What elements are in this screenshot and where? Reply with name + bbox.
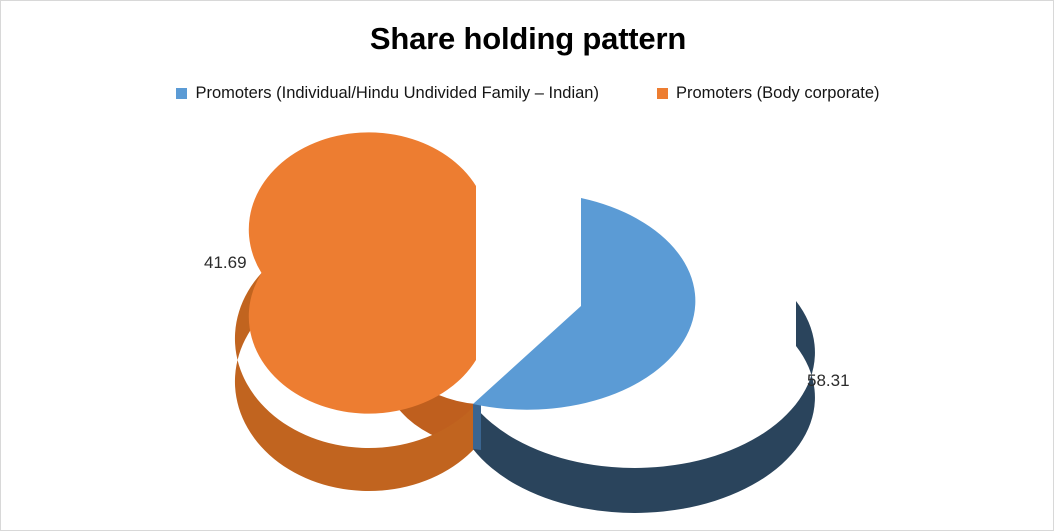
pie-slice-orange-top	[249, 132, 476, 413]
pie-chart-graphic	[1, 1, 1054, 531]
chart-container: Share holding pattern Promoters (Individ…	[0, 0, 1054, 531]
data-label-blue-slice: 58.31	[807, 371, 850, 391]
pie-slice-blue-cut-wall	[473, 404, 481, 450]
pie-slice-promoters-body-corporate[interactable]	[235, 132, 476, 491]
data-label-orange-slice: 41.69	[204, 253, 247, 273]
